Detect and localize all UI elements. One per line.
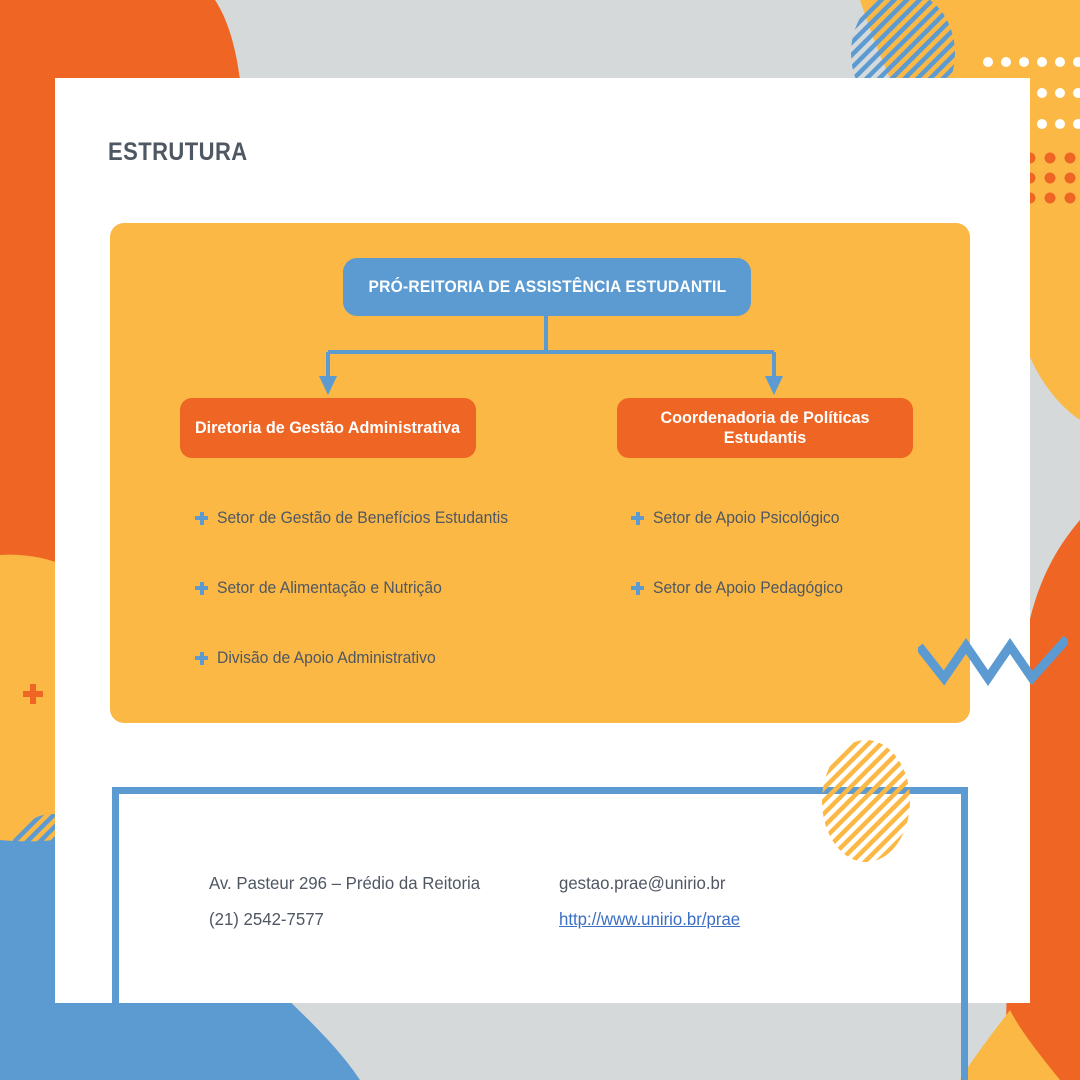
- org-list-coordenadoria: Setor de Apoio Psicológico Setor de Apoi…: [631, 500, 853, 640]
- footer-column-online: gestao.prae@unirio.br http://www.unirio.…: [559, 865, 748, 937]
- list-item[interactable]: Setor de Gestão de Benefícios Estudantis: [195, 500, 523, 536]
- org-node-root-label: PRÓ-REITORIA DE ASSISTÊNCIA ESTUDANTIL: [368, 277, 726, 297]
- list-item-label: Setor de Apoio Pedagógico: [653, 579, 843, 598]
- org-node-coordenadoria-label: Coordenadoria de Políticas Estudantis: [624, 408, 905, 448]
- list-item-label: Setor de Gestão de Benefícios Estudantis: [217, 509, 508, 528]
- list-item-label: Divisão de Apoio Administrativo: [217, 649, 436, 668]
- arrow-left-icon: [319, 376, 337, 395]
- org-node-coordenadoria[interactable]: Coordenadoria de Políticas Estudantis: [617, 398, 913, 458]
- list-item[interactable]: Setor de Apoio Psicológico: [631, 500, 853, 536]
- list-item[interactable]: Divisão de Apoio Administrativo: [195, 640, 523, 676]
- org-node-diretoria[interactable]: Diretoria de Gestão Administrativa: [180, 398, 476, 458]
- plus-icon: [195, 582, 208, 595]
- list-item-label: Setor de Apoio Psicológico: [653, 509, 839, 528]
- plus-icon: [195, 652, 208, 665]
- footer-address: Av. Pasteur 296 – Prédio da Reitoria: [209, 865, 480, 901]
- plus-icon: [195, 512, 208, 525]
- arrow-right-icon: [765, 376, 783, 395]
- footer-column-address: Av. Pasteur 296 – Prédio da Reitoria (21…: [209, 865, 491, 937]
- page-title: ESTRUTURA: [108, 138, 248, 167]
- footer-website-link[interactable]: http://www.unirio.br/prae: [559, 901, 740, 937]
- org-node-diretoria-label: Diretoria de Gestão Administrativa: [195, 418, 460, 438]
- zigzag-icon: [918, 636, 1068, 691]
- list-item[interactable]: Setor de Alimentação e Nutrição: [195, 570, 523, 606]
- list-item-label: Setor de Alimentação e Nutrição: [217, 579, 442, 598]
- list-item[interactable]: Setor de Apoio Pedagógico: [631, 570, 853, 606]
- footer-email[interactable]: gestao.prae@unirio.br: [559, 865, 740, 901]
- plus-icon: [631, 582, 644, 595]
- org-node-root[interactable]: PRÓ-REITORIA DE ASSISTÊNCIA ESTUDANTIL: [343, 258, 751, 316]
- footer-contact: Av. Pasteur 296 – Prédio da Reitoria (21…: [112, 787, 968, 1003]
- org-list-diretoria: Setor de Gestão de Benefícios Estudantis…: [195, 500, 523, 710]
- footer-phone: (21) 2542-7577: [209, 901, 480, 937]
- plus-icon: [631, 512, 644, 525]
